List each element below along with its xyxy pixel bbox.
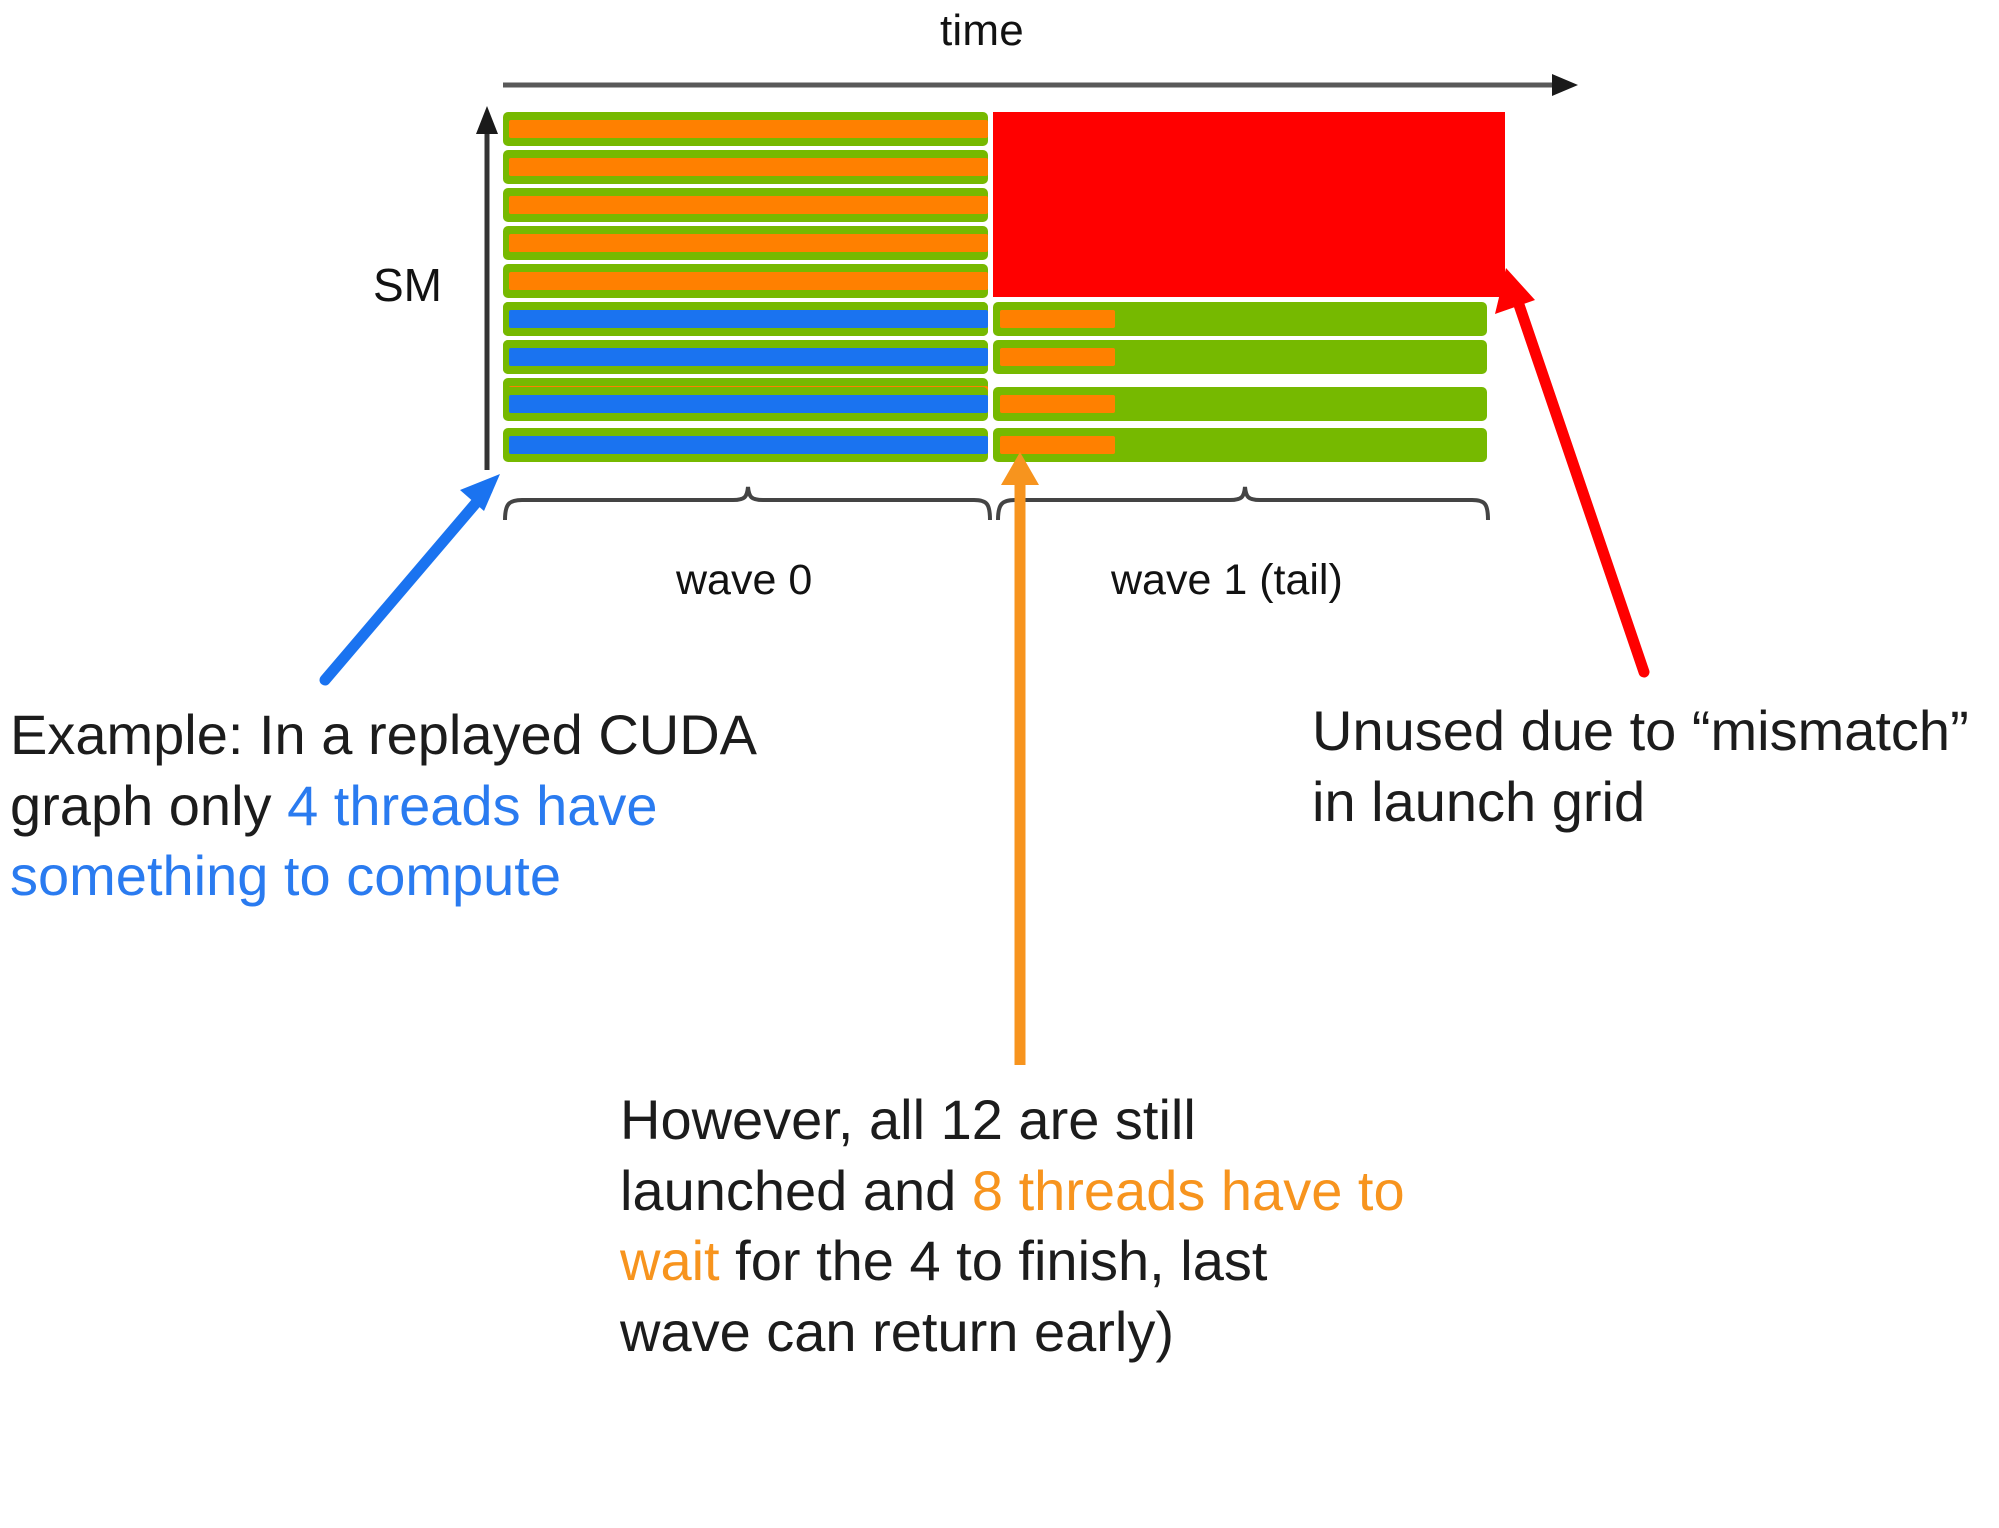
wave0-wait-stripe — [509, 120, 988, 138]
table-row — [993, 387, 1487, 421]
wave1-wait-stripe — [1000, 395, 1115, 413]
note-unused-right: Unused due to “mismatch” in launch grid — [1312, 696, 1999, 837]
wave0-wait-stripe — [509, 272, 988, 290]
table-row — [503, 150, 988, 184]
table-row — [503, 112, 988, 146]
note-however-bottom: However, all 12 are still launched and 8… — [620, 1085, 1410, 1367]
table-row — [993, 428, 1487, 462]
wave0-wait-stripe — [509, 196, 988, 214]
table-row — [503, 226, 988, 260]
table-row — [503, 340, 988, 374]
table-row — [993, 302, 1487, 336]
wave1-wait-stripe — [1000, 348, 1115, 366]
wave0-compute-stripe — [509, 348, 988, 366]
note-example-left: Example: In a replayed CUDA graph only 4… — [10, 700, 780, 912]
table-row — [503, 188, 988, 222]
brace-label-wave0: wave 0 — [676, 556, 812, 605]
table-row — [993, 340, 1487, 374]
wave0-wait-stripe — [509, 158, 988, 176]
table-row — [503, 302, 988, 336]
table-row — [503, 428, 988, 462]
wave0-wait-stripe — [509, 234, 988, 252]
table-row — [503, 264, 988, 298]
note-right-text: Unused due to “mismatch” in launch grid — [1312, 699, 1969, 833]
diagram-canvas: time SM — [0, 0, 1999, 1528]
wave0-compute-stripe — [509, 395, 988, 413]
wave0-compute-stripe — [509, 436, 988, 454]
brace-label-wave1: wave 1 (tail) — [1111, 556, 1343, 605]
wave1-wait-stripe — [1000, 436, 1115, 454]
unused-red-block — [993, 112, 1505, 297]
wave1-wait-stripe — [1000, 310, 1115, 328]
table-row — [503, 387, 988, 421]
wave0-compute-stripe — [509, 310, 988, 328]
